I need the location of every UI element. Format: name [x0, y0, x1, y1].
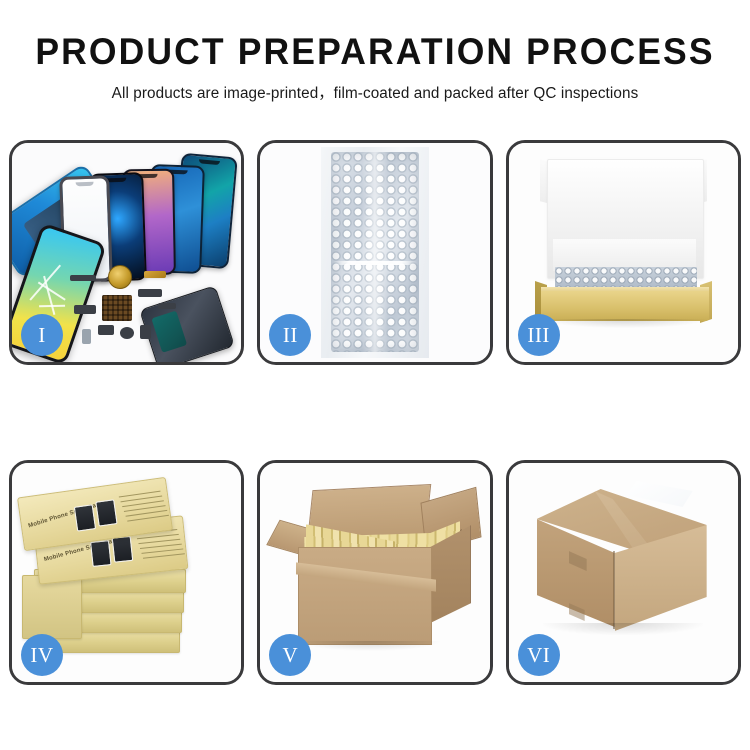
process-step-panel-3[interactable]: III [506, 140, 741, 365]
step-badge-4: IV [21, 634, 63, 676]
battery-part-icon [140, 325, 151, 339]
bracket-part-icon [74, 305, 96, 314]
carton-corner-seam [613, 551, 615, 629]
kraft-tray-icon [541, 291, 709, 321]
box-product-thumb [112, 536, 134, 563]
page-title: PRODUCT PREPARATION PROCESS [15, 30, 735, 74]
step-4-image: Mobile Phone Spare Parts Mobile Ph [12, 463, 241, 682]
step-badge-3: III [518, 314, 560, 356]
step-badge-5: V [269, 634, 311, 676]
process-step-panel-6[interactable]: VI [506, 460, 741, 685]
process-step-panel-5[interactable]: V [257, 460, 492, 685]
button-part-icon [98, 325, 114, 335]
step-2-image: II [260, 143, 489, 362]
step-badge-6: VI [518, 634, 560, 676]
drop-shadow [300, 641, 440, 651]
process-step-panel-2[interactable]: II [257, 140, 492, 365]
box-product-thumb [90, 540, 112, 567]
stacked-box-side [22, 575, 82, 639]
step-5-image: V [260, 463, 489, 682]
chip-part-icon [70, 275, 96, 281]
bubble-wrap-icon [331, 152, 419, 352]
step-3-image: III [509, 143, 738, 362]
antenna-part-icon [158, 303, 176, 309]
process-step-panel-4[interactable]: Mobile Phone Spare Parts Mobile Ph [9, 460, 244, 685]
flex-cable-icon [144, 271, 166, 278]
connector-part-icon [138, 289, 162, 297]
logic-board-icon [102, 295, 132, 321]
carton-front-face [298, 547, 432, 645]
step-badge-1: I [21, 314, 63, 356]
step-1-image: I [12, 143, 241, 362]
step-6-image: VI [509, 463, 738, 682]
sim-tray-icon [82, 329, 91, 344]
drop-shadow [543, 319, 707, 328]
wrap-seam [333, 261, 417, 265]
step-badge-2: II [269, 314, 311, 356]
product-preparation-infographic: PRODUCT PREPARATION PROCESS All products… [0, 0, 750, 750]
page-subtitle: All products are image-printed，film-coat… [6, 81, 745, 103]
box-product-thumb [74, 504, 96, 531]
header: PRODUCT PREPARATION PROCESS All products… [0, 30, 750, 103]
camera-part-icon [120, 327, 134, 339]
gloss-highlight [362, 152, 388, 352]
drop-shadow [543, 623, 703, 635]
box-product-thumb [95, 499, 117, 526]
process-step-panel-1[interactable]: I [9, 140, 244, 365]
speaker-coil-icon [108, 265, 132, 289]
process-steps-grid: I II [9, 140, 741, 685]
